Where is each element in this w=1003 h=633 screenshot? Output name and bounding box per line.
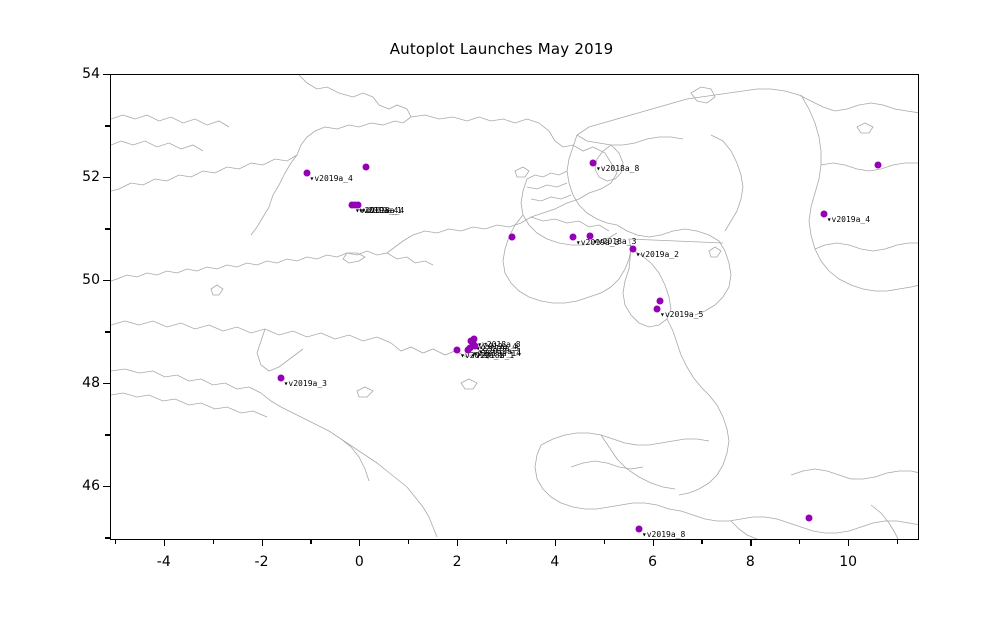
y-axis-minor-tick: [105, 228, 110, 229]
y-axis-minor-tick: [105, 331, 110, 332]
figure-canvas: Autoplot Launches May 2019: [0, 0, 1003, 633]
y-axis-tick-label: 54: [58, 66, 100, 82]
y-axis-tick: [103, 486, 110, 487]
y-axis-tick: [103, 280, 110, 281]
y-axis-tick: [103, 383, 110, 384]
y-axis-minor-tick: [105, 125, 110, 126]
y-axis-minor-tick: [105, 537, 110, 538]
y-axis-tick: [103, 177, 110, 178]
y-axis-tick-label: 52: [58, 169, 100, 185]
y-axis-minor-tick: [105, 434, 110, 435]
y-axis-tick-label: 48: [58, 375, 100, 391]
y-axis-tick-label: 46: [58, 478, 100, 494]
y-axis-tick: [103, 74, 110, 75]
y-axis-tick-label: 50: [58, 272, 100, 288]
y-axis-tick-labels: 4648505254: [0, 0, 1003, 633]
